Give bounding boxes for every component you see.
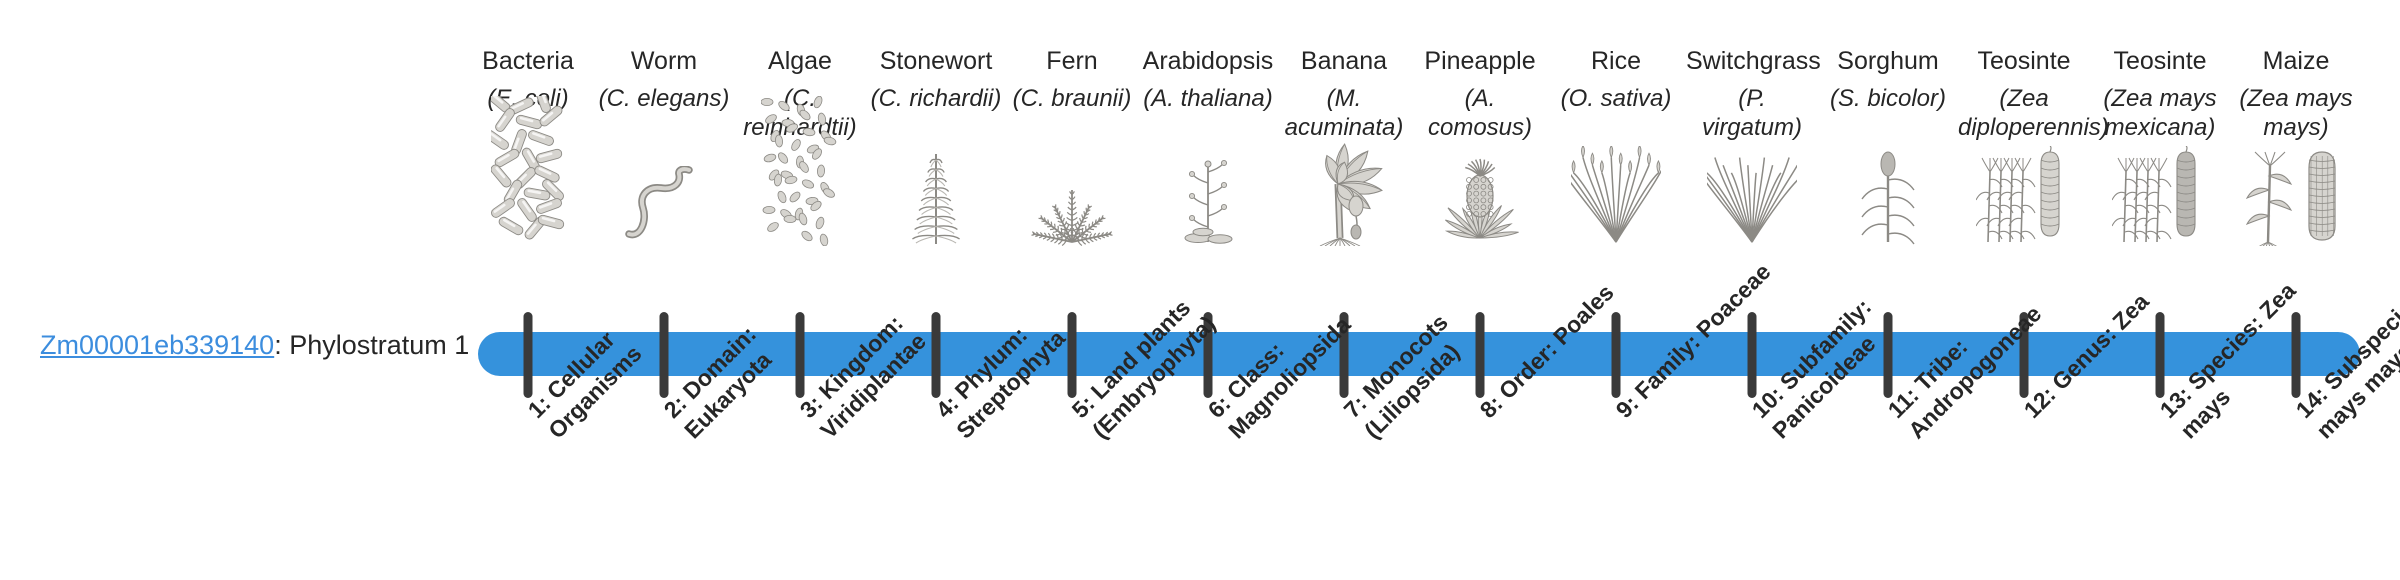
species-common-name: Stonewort — [870, 46, 1002, 76]
worm-icon — [598, 146, 730, 246]
pineapple-icon — [1414, 146, 1546, 246]
species-column-6: Arabidopsis(A. thaliana) — [1142, 46, 1274, 246]
species-column-2: Worm(C. elegans) — [598, 46, 730, 246]
banana-icon — [1278, 146, 1410, 246]
fern-icon — [1006, 146, 1138, 246]
species-column-10: Switchgrass(P. virgatum) — [1686, 46, 1818, 246]
species-common-name: Switchgrass — [1686, 46, 1818, 76]
species-scientific-name: (Zea diploperennis) — [1958, 84, 2090, 142]
species-column-11: Sorghum(S. bicolor) — [1822, 46, 1954, 246]
species-common-name: Worm — [598, 46, 730, 76]
teosinte-mex-icon — [2094, 146, 2226, 246]
species-common-name: Algae — [734, 46, 866, 76]
teosinte-diplo-icon — [1958, 146, 2090, 246]
species-column-3: Algae(C. reinhardtii) — [734, 46, 866, 246]
species-column-8: Pineapple(A. comosus) — [1414, 46, 1546, 246]
maize-icon — [2230, 146, 2362, 246]
species-scientific-name: (Zea mays mexicana) — [2094, 84, 2226, 142]
arabidopsis-icon — [1142, 146, 1274, 246]
gene-phylostratum-label: Zm00001eb339140: Phylostratum 1 — [40, 330, 460, 361]
species-common-name: Arabidopsis — [1142, 46, 1274, 76]
tick-mark-1 — [524, 312, 533, 398]
species-common-name: Maize — [2230, 46, 2362, 76]
species-common-name: Rice — [1550, 46, 1682, 76]
algae-icon — [734, 146, 866, 246]
species-common-name: Sorghum — [1822, 46, 1954, 76]
tick-mark-9 — [1612, 312, 1621, 398]
sorghum-icon — [1822, 146, 1954, 246]
species-column-12: Teosinte(Zea diploperennis) — [1958, 46, 2090, 246]
species-column-1: Bacteria(E. coli) — [462, 46, 594, 246]
gene-label-separator: : — [274, 330, 289, 360]
species-scientific-name: (S. bicolor) — [1822, 84, 1954, 142]
species-scientific-name: (O. sativa) — [1550, 84, 1682, 142]
species-scientific-name: (A. comosus) — [1414, 84, 1546, 142]
tick-mark-13 — [2156, 312, 2165, 398]
species-column-7: Banana(M. acuminata) — [1278, 46, 1410, 246]
switchgrass-icon — [1686, 146, 1818, 246]
species-column-9: Rice(O. sativa) — [1550, 46, 1682, 246]
species-common-name: Pineapple — [1414, 46, 1546, 76]
species-common-name: Bacteria — [462, 46, 594, 76]
species-scientific-name: (P. virgatum) — [1686, 84, 1818, 142]
species-column-5: Fern(C. braunii) — [1006, 46, 1138, 246]
species-common-name: Banana — [1278, 46, 1410, 76]
stonewort-icon — [870, 146, 1002, 246]
gene-id-link[interactable]: Zm00001eb339140 — [40, 330, 274, 360]
species-scientific-name: (Zea mays mays) — [2230, 84, 2362, 142]
species-common-name: Teosinte — [2094, 46, 2226, 76]
species-column-14: Maize(Zea mays mays) — [2230, 46, 2362, 246]
species-scientific-name: (C. richardii) — [870, 84, 1002, 142]
species-common-name: Fern — [1006, 46, 1138, 76]
tick-mark-10 — [1748, 312, 1757, 398]
species-column-4: Stonewort(C. richardii) — [870, 46, 1002, 246]
species-scientific-name: (C. elegans) — [598, 84, 730, 142]
species-scientific-name: (A. thaliana) — [1142, 84, 1274, 142]
phylostratum-value: Phylostratum 1 — [289, 330, 469, 360]
species-column-13: Teosinte(Zea mays mexicana) — [2094, 46, 2226, 246]
rice-icon — [1550, 146, 1682, 246]
species-common-name: Teosinte — [1958, 46, 2090, 76]
bacteria-icon — [462, 146, 594, 246]
species-scientific-name: (C. braunii) — [1006, 84, 1138, 142]
species-scientific-name: (M. acuminata) — [1278, 84, 1410, 142]
